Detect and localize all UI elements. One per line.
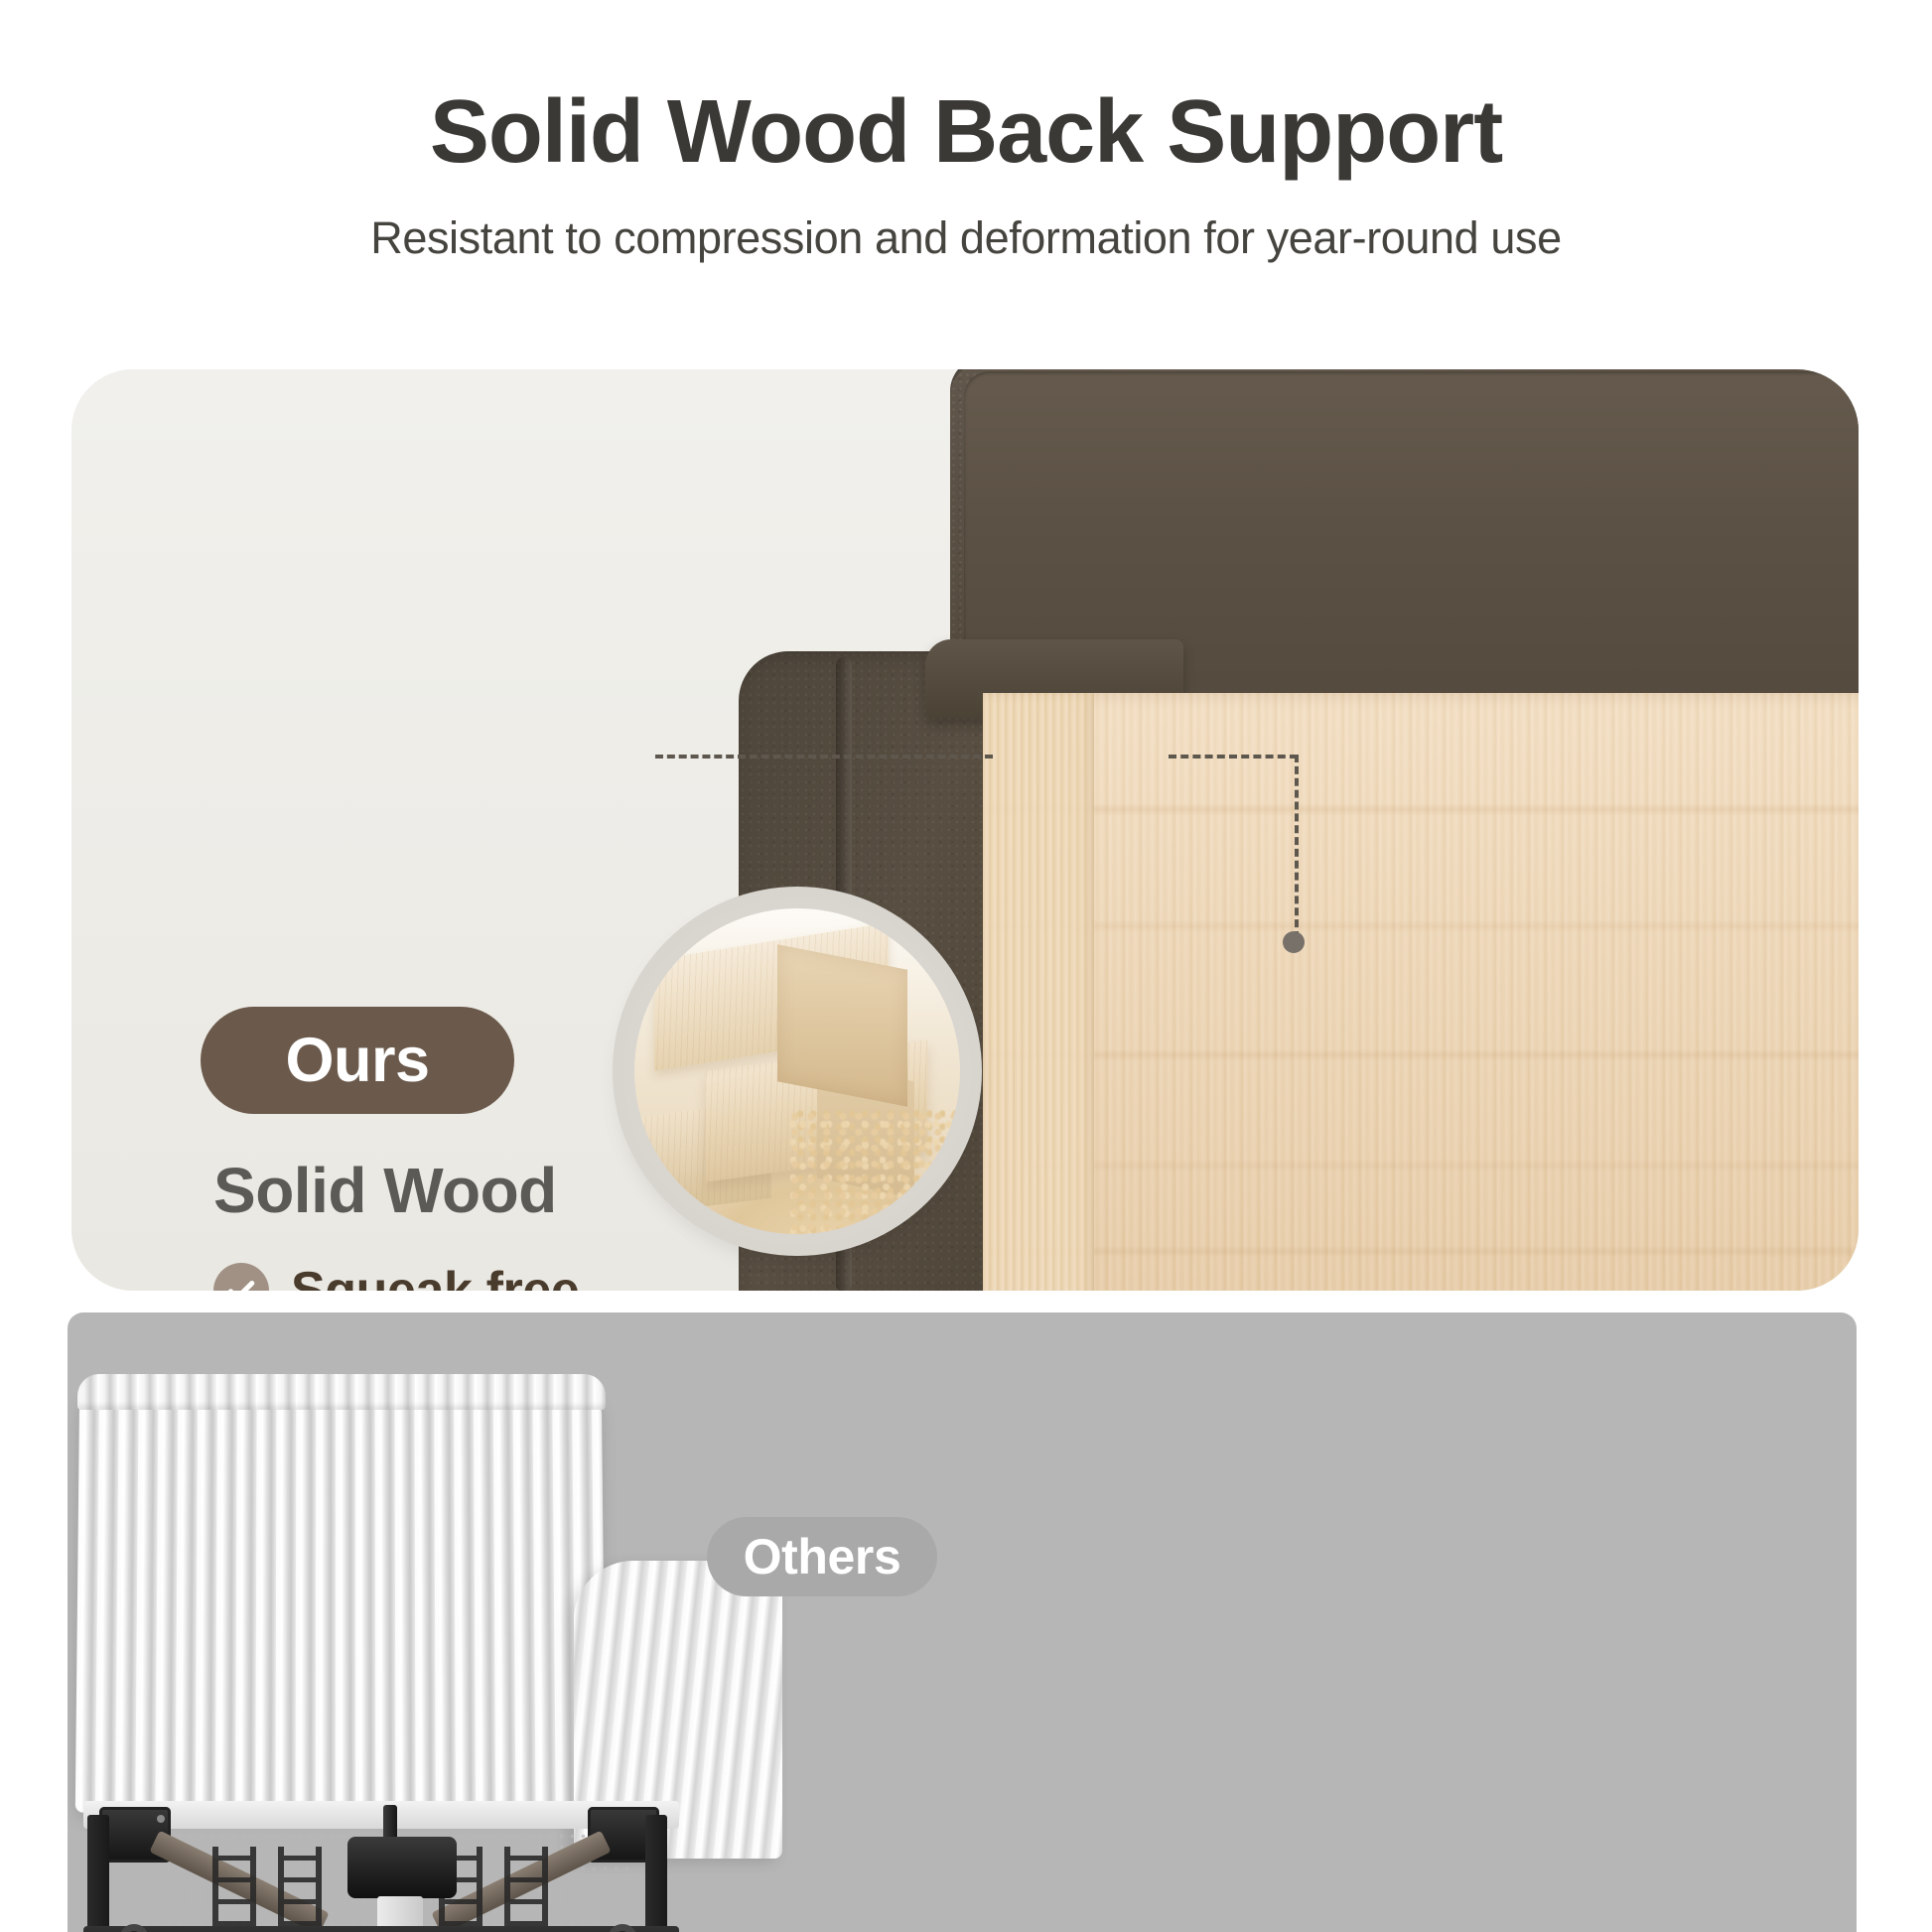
zigzag-spring: [504, 1847, 548, 1932]
list-item: Squeak free: [213, 1261, 579, 1291]
check-icon: [213, 1263, 269, 1291]
ours-panel: Ours Solid Wood Squeak free Durable: [71, 369, 1859, 1291]
others-badge: Others: [707, 1517, 937, 1596]
corduroy-sofa-top-edge: [77, 1374, 606, 1410]
page-title: Solid Wood Back Support: [430, 87, 1502, 177]
frame-horizontal-bar: [83, 1926, 679, 1932]
frame-motor-housing: [347, 1837, 457, 1898]
sawdust-shavings: [790, 1110, 960, 1234]
frame-vertical-bar-left: [87, 1815, 109, 1932]
list-item-label: Squeak free: [291, 1261, 579, 1291]
corduroy-sofa-back-photo: [75, 1386, 606, 1813]
others-badge-label: Others: [744, 1528, 901, 1586]
callout-dot-marker: [1283, 931, 1305, 953]
solid-wood-frame-photo: [983, 693, 1859, 1291]
callout-dashed-line-left: [655, 755, 993, 759]
callout-dashed-line-vertical: [1295, 755, 1299, 939]
steel-frame-photo: [83, 1801, 679, 1932]
others-panel: [68, 1312, 1857, 1932]
wood-end-grain-edge: [983, 693, 1094, 1291]
header: Solid Wood Back Support Resistant to com…: [0, 0, 1932, 298]
zigzag-spring: [278, 1847, 322, 1932]
wood-blocks-photo: [634, 908, 960, 1234]
ours-material-label: Solid Wood: [213, 1154, 557, 1227]
page-subtitle: Resistant to compression and deformation…: [370, 212, 1562, 264]
wood-block-top-face: [777, 944, 907, 1106]
ours-badge-label: Ours: [285, 1025, 429, 1096]
wood-blocks-circle-inset: [623, 897, 971, 1245]
zigzag-spring: [212, 1847, 256, 1932]
wood-grain-texture: [983, 693, 1859, 1291]
ours-badge: Ours: [201, 1007, 514, 1114]
ours-feature-list: Squeak free Durable: [213, 1261, 579, 1291]
frame-vertical-bar-right: [645, 1815, 667, 1932]
callout-dashed-line-right: [1169, 755, 1298, 759]
infographic-page: Solid Wood Back Support Resistant to com…: [0, 0, 1932, 1932]
